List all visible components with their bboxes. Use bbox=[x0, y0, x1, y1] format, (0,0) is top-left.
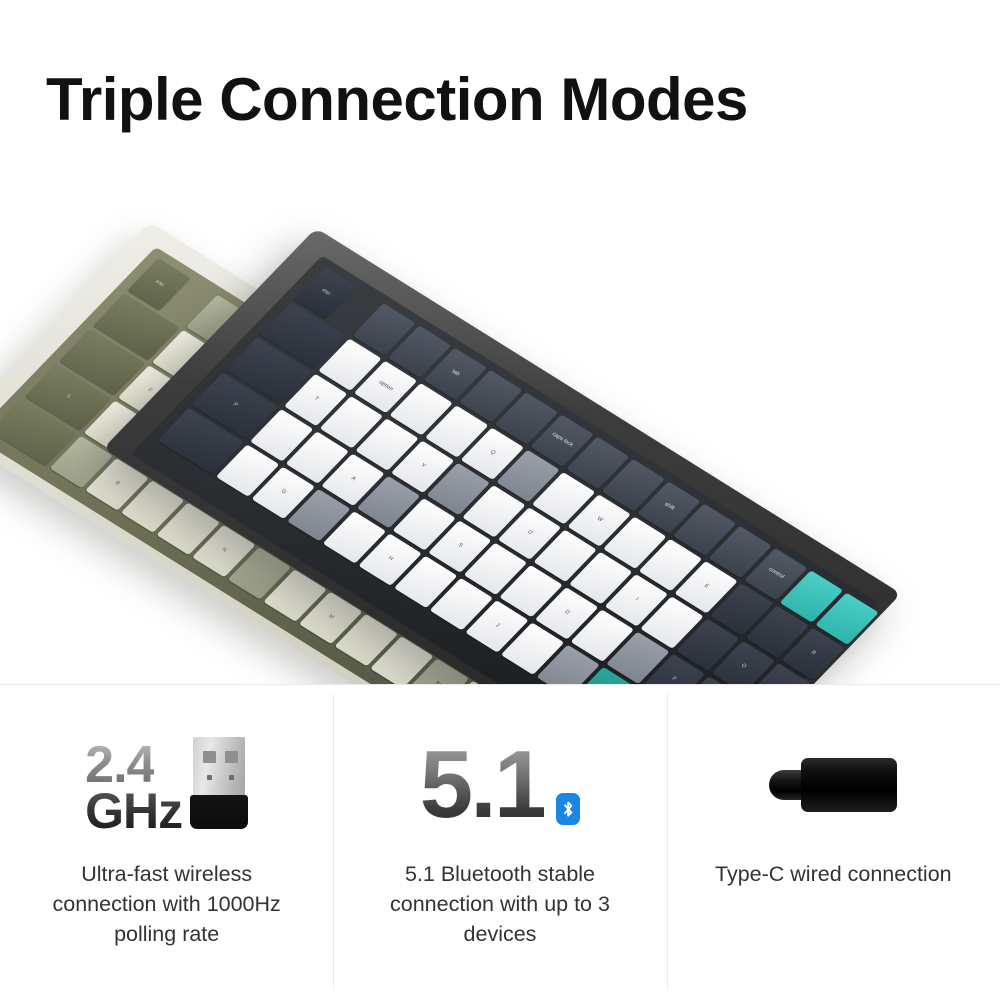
bluetooth-version-number: 5.1 bbox=[420, 737, 544, 833]
feature-icon-type-c bbox=[769, 733, 897, 837]
feature-columns: 2.4 GHz Ultra-fast wireless connec bbox=[0, 685, 1000, 1000]
dark-keycap-grid: esctabcaps lockshiftcontroloptionQWERTYU… bbox=[130, 255, 878, 684]
feature-wireless-24ghz: 2.4 GHz Ultra-fast wireless connec bbox=[0, 685, 333, 1000]
feature-type-c-wired: Type-C wired connection bbox=[667, 685, 1000, 1000]
keyboard-stage: esctabcaps lockshiftcontroloptionASDFGHJ… bbox=[0, 170, 1000, 684]
usb-dongle-icon bbox=[190, 737, 248, 833]
hero-keyboard-image: esctabcaps lockshiftcontroloptionASDFGHJ… bbox=[0, 170, 1000, 684]
bluetooth-icon bbox=[556, 793, 580, 825]
feature-icon-bluetooth: 5.1 bbox=[420, 733, 580, 837]
usb-dongle-slot-left bbox=[203, 751, 216, 763]
feature-caption-bluetooth: 5.1 Bluetooth stable connection with up … bbox=[360, 859, 640, 949]
usb-dongle-metal-shell bbox=[193, 737, 245, 797]
usb-dongle-notch-left bbox=[207, 775, 212, 780]
feature-bluetooth-51: 5.1 5.1 Bluetooth stable connection with… bbox=[333, 685, 666, 1000]
ghz-lockup: 2.4 GHz bbox=[85, 737, 248, 833]
ghz-text: 2.4 GHz bbox=[85, 743, 182, 833]
usb-dongle-slot-right bbox=[225, 751, 238, 763]
feature-caption-type-c: Type-C wired connection bbox=[693, 859, 973, 889]
usb-type-c-connector-icon bbox=[769, 752, 897, 818]
usb-type-c-housing bbox=[801, 758, 897, 812]
ghz-unit: GHz bbox=[85, 790, 182, 833]
page-title: Triple Connection Modes bbox=[46, 68, 748, 131]
dark-keyboard-plate: esctabcaps lockshiftcontroloptionQWERTYU… bbox=[130, 255, 878, 684]
usb-dongle-body bbox=[190, 795, 248, 829]
feature-icon-wireless: 2.4 GHz bbox=[85, 733, 248, 837]
ghz-number: 2.4 bbox=[85, 743, 154, 788]
product-feature-page: Triple Connection Modes esctabcaps locks… bbox=[0, 0, 1000, 1000]
usb-dongle-notch-right bbox=[229, 775, 234, 780]
bluetooth-lockup: 5.1 bbox=[420, 737, 580, 833]
feature-caption-wireless: Ultra-fast wireless connection with 1000… bbox=[27, 859, 307, 949]
